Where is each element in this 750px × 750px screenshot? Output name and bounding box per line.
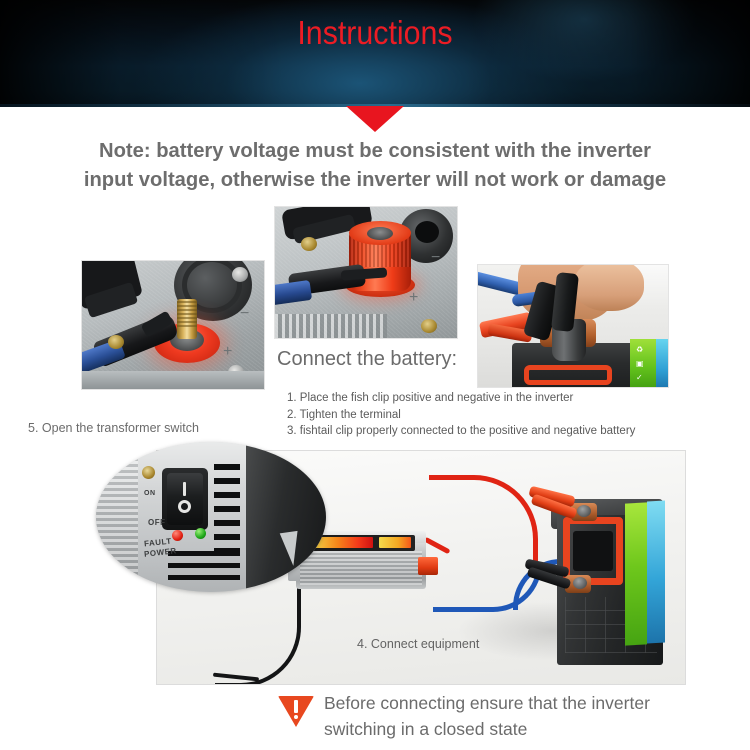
- recycle-icon: ♻: [636, 345, 643, 354]
- photo3-blue-label: [656, 339, 668, 387]
- inverter-label-badge: [379, 537, 411, 548]
- photo2-bottom-edge: [275, 314, 387, 338]
- photo1-brass-screw: [108, 335, 124, 349]
- magnifier-vent-slots-2: [168, 546, 240, 580]
- battery-positive-post: [577, 505, 591, 517]
- red-terminal-cap-photo: + −: [275, 207, 457, 338]
- battery-green-label: [625, 502, 647, 645]
- photo2-brass-screw-2: [421, 319, 437, 333]
- magnifier-vent-slots: [214, 458, 240, 554]
- page-title: Instructions: [30, 14, 720, 52]
- photo3-hand-right: [574, 265, 644, 311]
- warning-text: Before connecting ensure that the invert…: [324, 690, 650, 742]
- warning-exclamation-dot: [294, 715, 298, 719]
- step-item-3: 3. fishtail clip properly connected to t…: [287, 423, 707, 440]
- battery-blue-label: [647, 501, 665, 644]
- connect-equipment-caption: 4. Connect equipment: [357, 637, 479, 651]
- photo1-bolt-threads: [177, 301, 197, 327]
- battery-handle-well: [573, 531, 613, 571]
- photo2-dash-mark: −: [431, 253, 440, 263]
- warning-line-1: Before connecting ensure that the invert…: [324, 690, 650, 716]
- down-triangle-icon: [346, 106, 404, 132]
- warning-exclamation-stroke: [294, 700, 298, 713]
- warning-line-2: switching in a closed state: [324, 716, 650, 742]
- fault-led: [172, 530, 183, 541]
- switch-on-mark-icon: [183, 482, 186, 496]
- switch-off-mark-icon: [178, 500, 191, 513]
- power-switch-rocker[interactable]: [167, 473, 203, 525]
- photo2-red-cap-hole: [367, 227, 393, 240]
- switch-magnifier-callout: ON OFF FAULT POWER: [96, 442, 326, 592]
- photo1-plus-mark: +: [223, 347, 232, 357]
- transformer-switch-caption: 5. Open the transformer switch: [28, 421, 199, 435]
- battery-icon: ▣: [636, 359, 644, 368]
- photo1-bottom-edge: [82, 371, 264, 389]
- note-line-1: Note: battery voltage must be consistent…: [6, 136, 745, 165]
- photo1-dash-mark: −: [240, 309, 249, 319]
- check-icon: ✓: [636, 373, 643, 382]
- inverter-terminal-photo: + −: [82, 261, 264, 389]
- note-text: Note: battery voltage must be consistent…: [6, 136, 745, 194]
- step-item-1: 1. Place the fish clip positive and nega…: [287, 390, 707, 407]
- battery-negative-post: [573, 577, 587, 589]
- note-line-2: input voltage, otherwise the inverter wi…: [6, 165, 745, 194]
- photo2-plus-mark: +: [409, 293, 418, 303]
- connect-battery-heading: Connect the battery:: [277, 348, 457, 371]
- battery-clamp-photo: ♻ ▣ ✓: [478, 265, 668, 387]
- photo1-silver-screw-top: [232, 267, 248, 282]
- photo2-brass-screw: [301, 237, 317, 251]
- photo3-battery-red-frame: [524, 365, 612, 385]
- magnifier-heatsink-fins: [96, 452, 138, 592]
- instructions-page: Instructions Note: battery voltage must …: [0, 0, 750, 750]
- magnifier-screw: [142, 466, 155, 479]
- magnifier-dark-side: [246, 442, 326, 592]
- power-led: [195, 528, 206, 539]
- photo3-green-label: ♻ ▣ ✓: [630, 339, 656, 387]
- step-item-2: 2. Tighten the terminal: [287, 407, 707, 424]
- inverter-red-terminal: [418, 557, 438, 575]
- photo2-black-terminal-hole: [415, 221, 439, 243]
- switch-label-off: OFF: [148, 518, 166, 527]
- connect-battery-steps: 1. Place the fish clip positive and nega…: [287, 390, 707, 440]
- switch-label-on: ON: [144, 490, 156, 497]
- header-banner: Instructions: [0, 0, 750, 107]
